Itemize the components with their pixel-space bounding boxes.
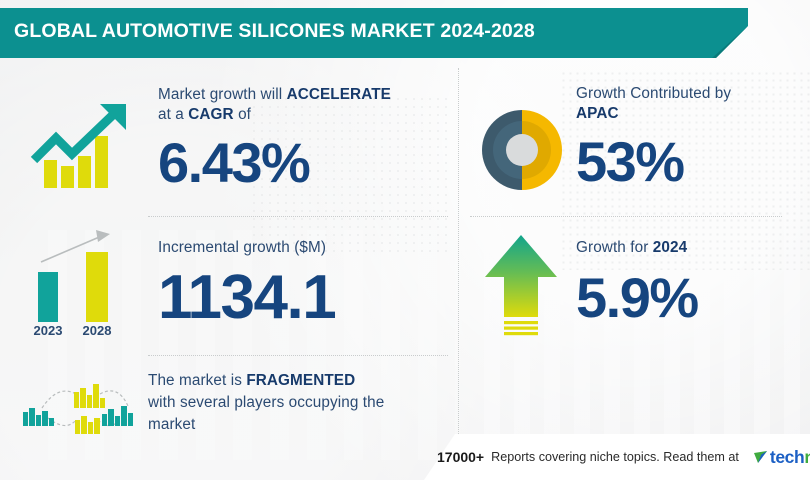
- growth-chart-icon: [28, 98, 140, 198]
- technavio-triangle-icon: [753, 449, 768, 465]
- cell-market-structure-text: The market is FRAGMENTED with several pl…: [148, 370, 448, 436]
- divider-right-upper: [470, 216, 782, 217]
- cell-incremental-growth-text: Incremental growth ($M) 1134.1: [158, 238, 448, 329]
- up-arrow-icon: [483, 233, 559, 338]
- market-structure-label: The market is FRAGMENTED with several pl…: [148, 370, 448, 436]
- footer: 17000+ Reports covering niche topics. Re…: [437, 434, 810, 480]
- divider-left-lower: [148, 355, 448, 356]
- bar-comparison-icon: 2023 2028: [18, 230, 136, 338]
- cell-cagr-text: Market growth will ACCELERATE at a CAGR …: [158, 85, 448, 191]
- growth-2024-value: 5.9%: [576, 270, 806, 326]
- growth-2024-label: Growth for 2024: [576, 238, 806, 258]
- technavio-logo[interactable]: technav: [753, 447, 810, 468]
- divider-left-upper: [148, 216, 448, 217]
- fragmented-market-icon: [18, 378, 138, 434]
- divider-vertical-center: [458, 68, 459, 436]
- cell-growth-2024-text: Growth for 2024 5.9%: [576, 238, 806, 326]
- bar-label-2023: 2023: [34, 323, 63, 338]
- bar-label-2028: 2028: [83, 323, 112, 338]
- technavio-logo-text: technav: [770, 447, 810, 468]
- incremental-growth-value: 1134.1: [158, 267, 448, 329]
- incremental-growth-label: Incremental growth ($M): [158, 238, 448, 258]
- apac-label: Growth Contributed by APAC: [576, 84, 806, 124]
- report-count: 17000+: [437, 449, 484, 465]
- donut-chart-icon: [480, 108, 564, 192]
- footer-text: Reports covering niche topics. Read them…: [491, 450, 739, 464]
- page-title: GLOBAL AUTOMOTIVE SILICONES MARKET 2024-…: [14, 20, 535, 43]
- cell-apac-text: Growth Contributed by APAC 53%: [576, 84, 806, 190]
- cagr-label: Market growth will ACCELERATE at a CAGR …: [158, 85, 448, 125]
- cagr-value: 6.43%: [158, 135, 448, 191]
- apac-value: 53%: [576, 134, 806, 190]
